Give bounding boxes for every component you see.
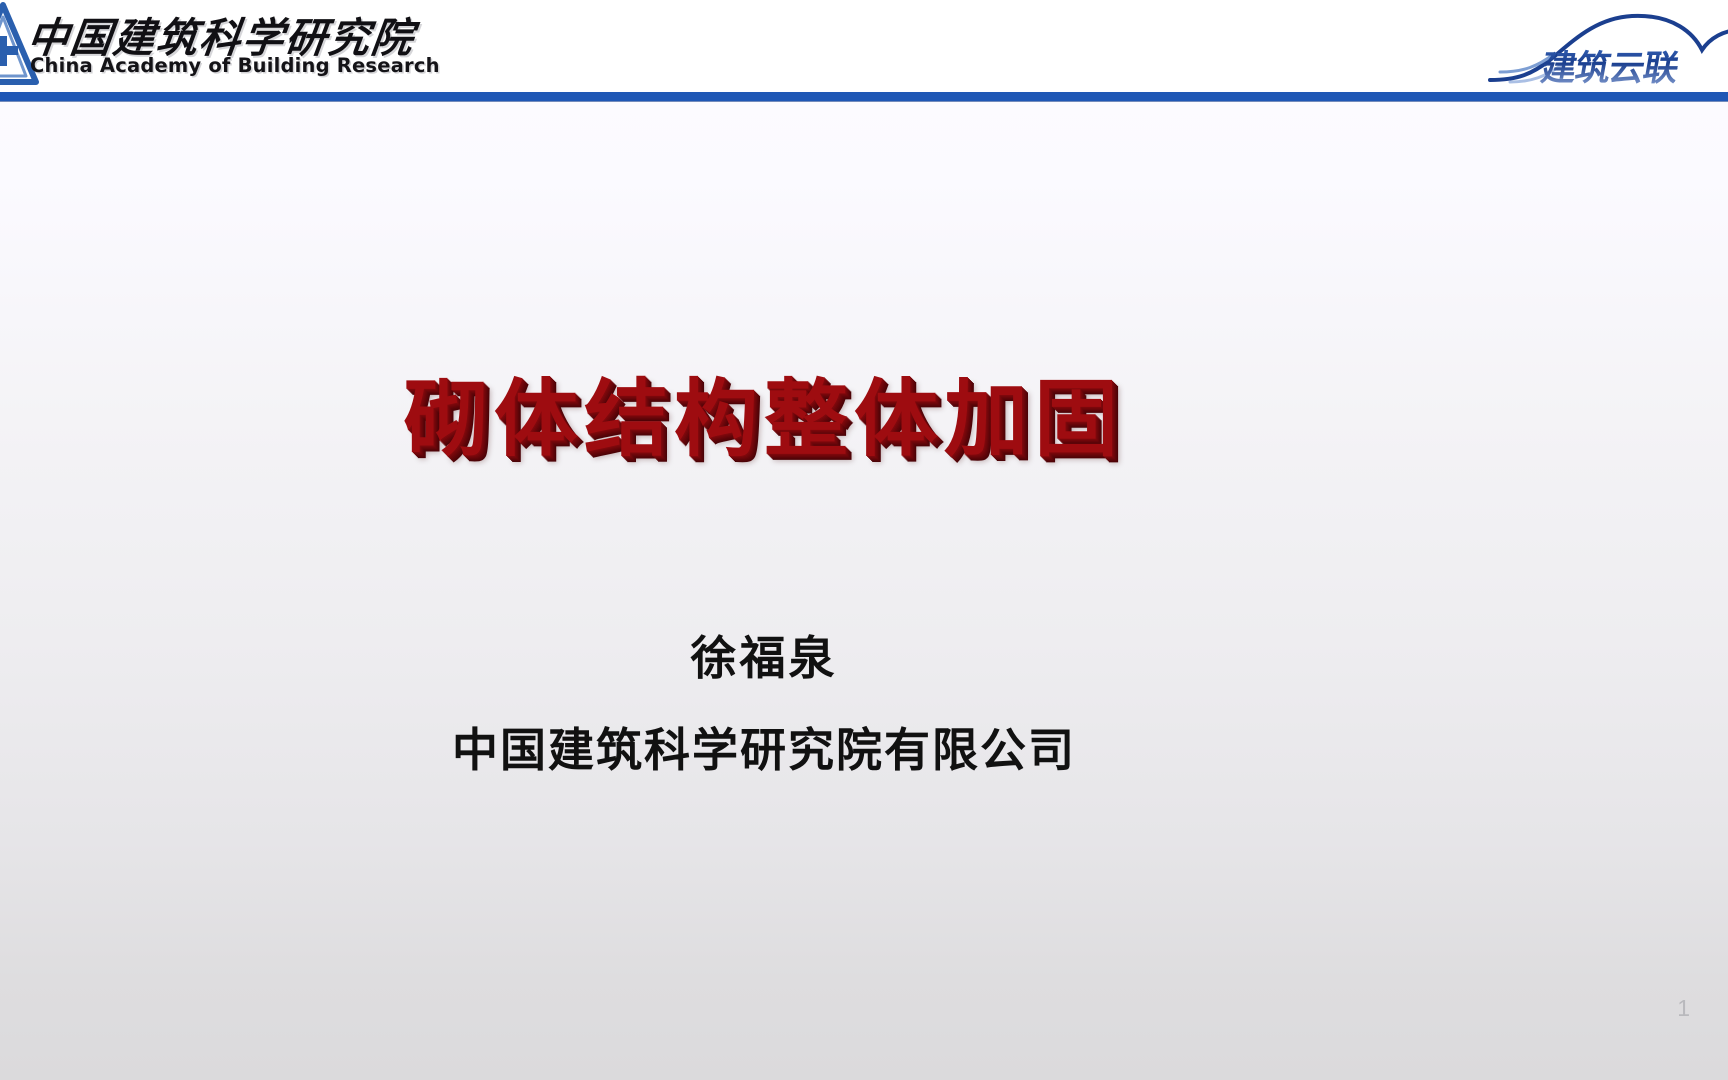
partner-logo-text: 建筑云联 xyxy=(1538,40,1683,91)
slide-header: 中国建筑科学研究院 China Academy of Building Rese… xyxy=(0,0,1728,92)
presenter-affiliation: 中国建筑科学研究院有限公司 xyxy=(0,714,1528,780)
partner-cloud-logo: 建筑云联 xyxy=(1488,4,1728,90)
slide-title: 砌体结构整体加固 xyxy=(0,352,1528,473)
presentation-slide: 中国建筑科学研究院 China Academy of Building Rese… xyxy=(0,0,1728,1080)
header-divider-bar xyxy=(0,92,1728,101)
cabr-wordmark: 中国建筑科学研究院 China Academy of Building Rese… xyxy=(26,4,356,84)
presenter-name: 徐福泉 xyxy=(0,622,1528,688)
cabr-name-en: China Academy of Building Research xyxy=(30,54,440,77)
page-number: 1 xyxy=(1677,995,1690,1022)
